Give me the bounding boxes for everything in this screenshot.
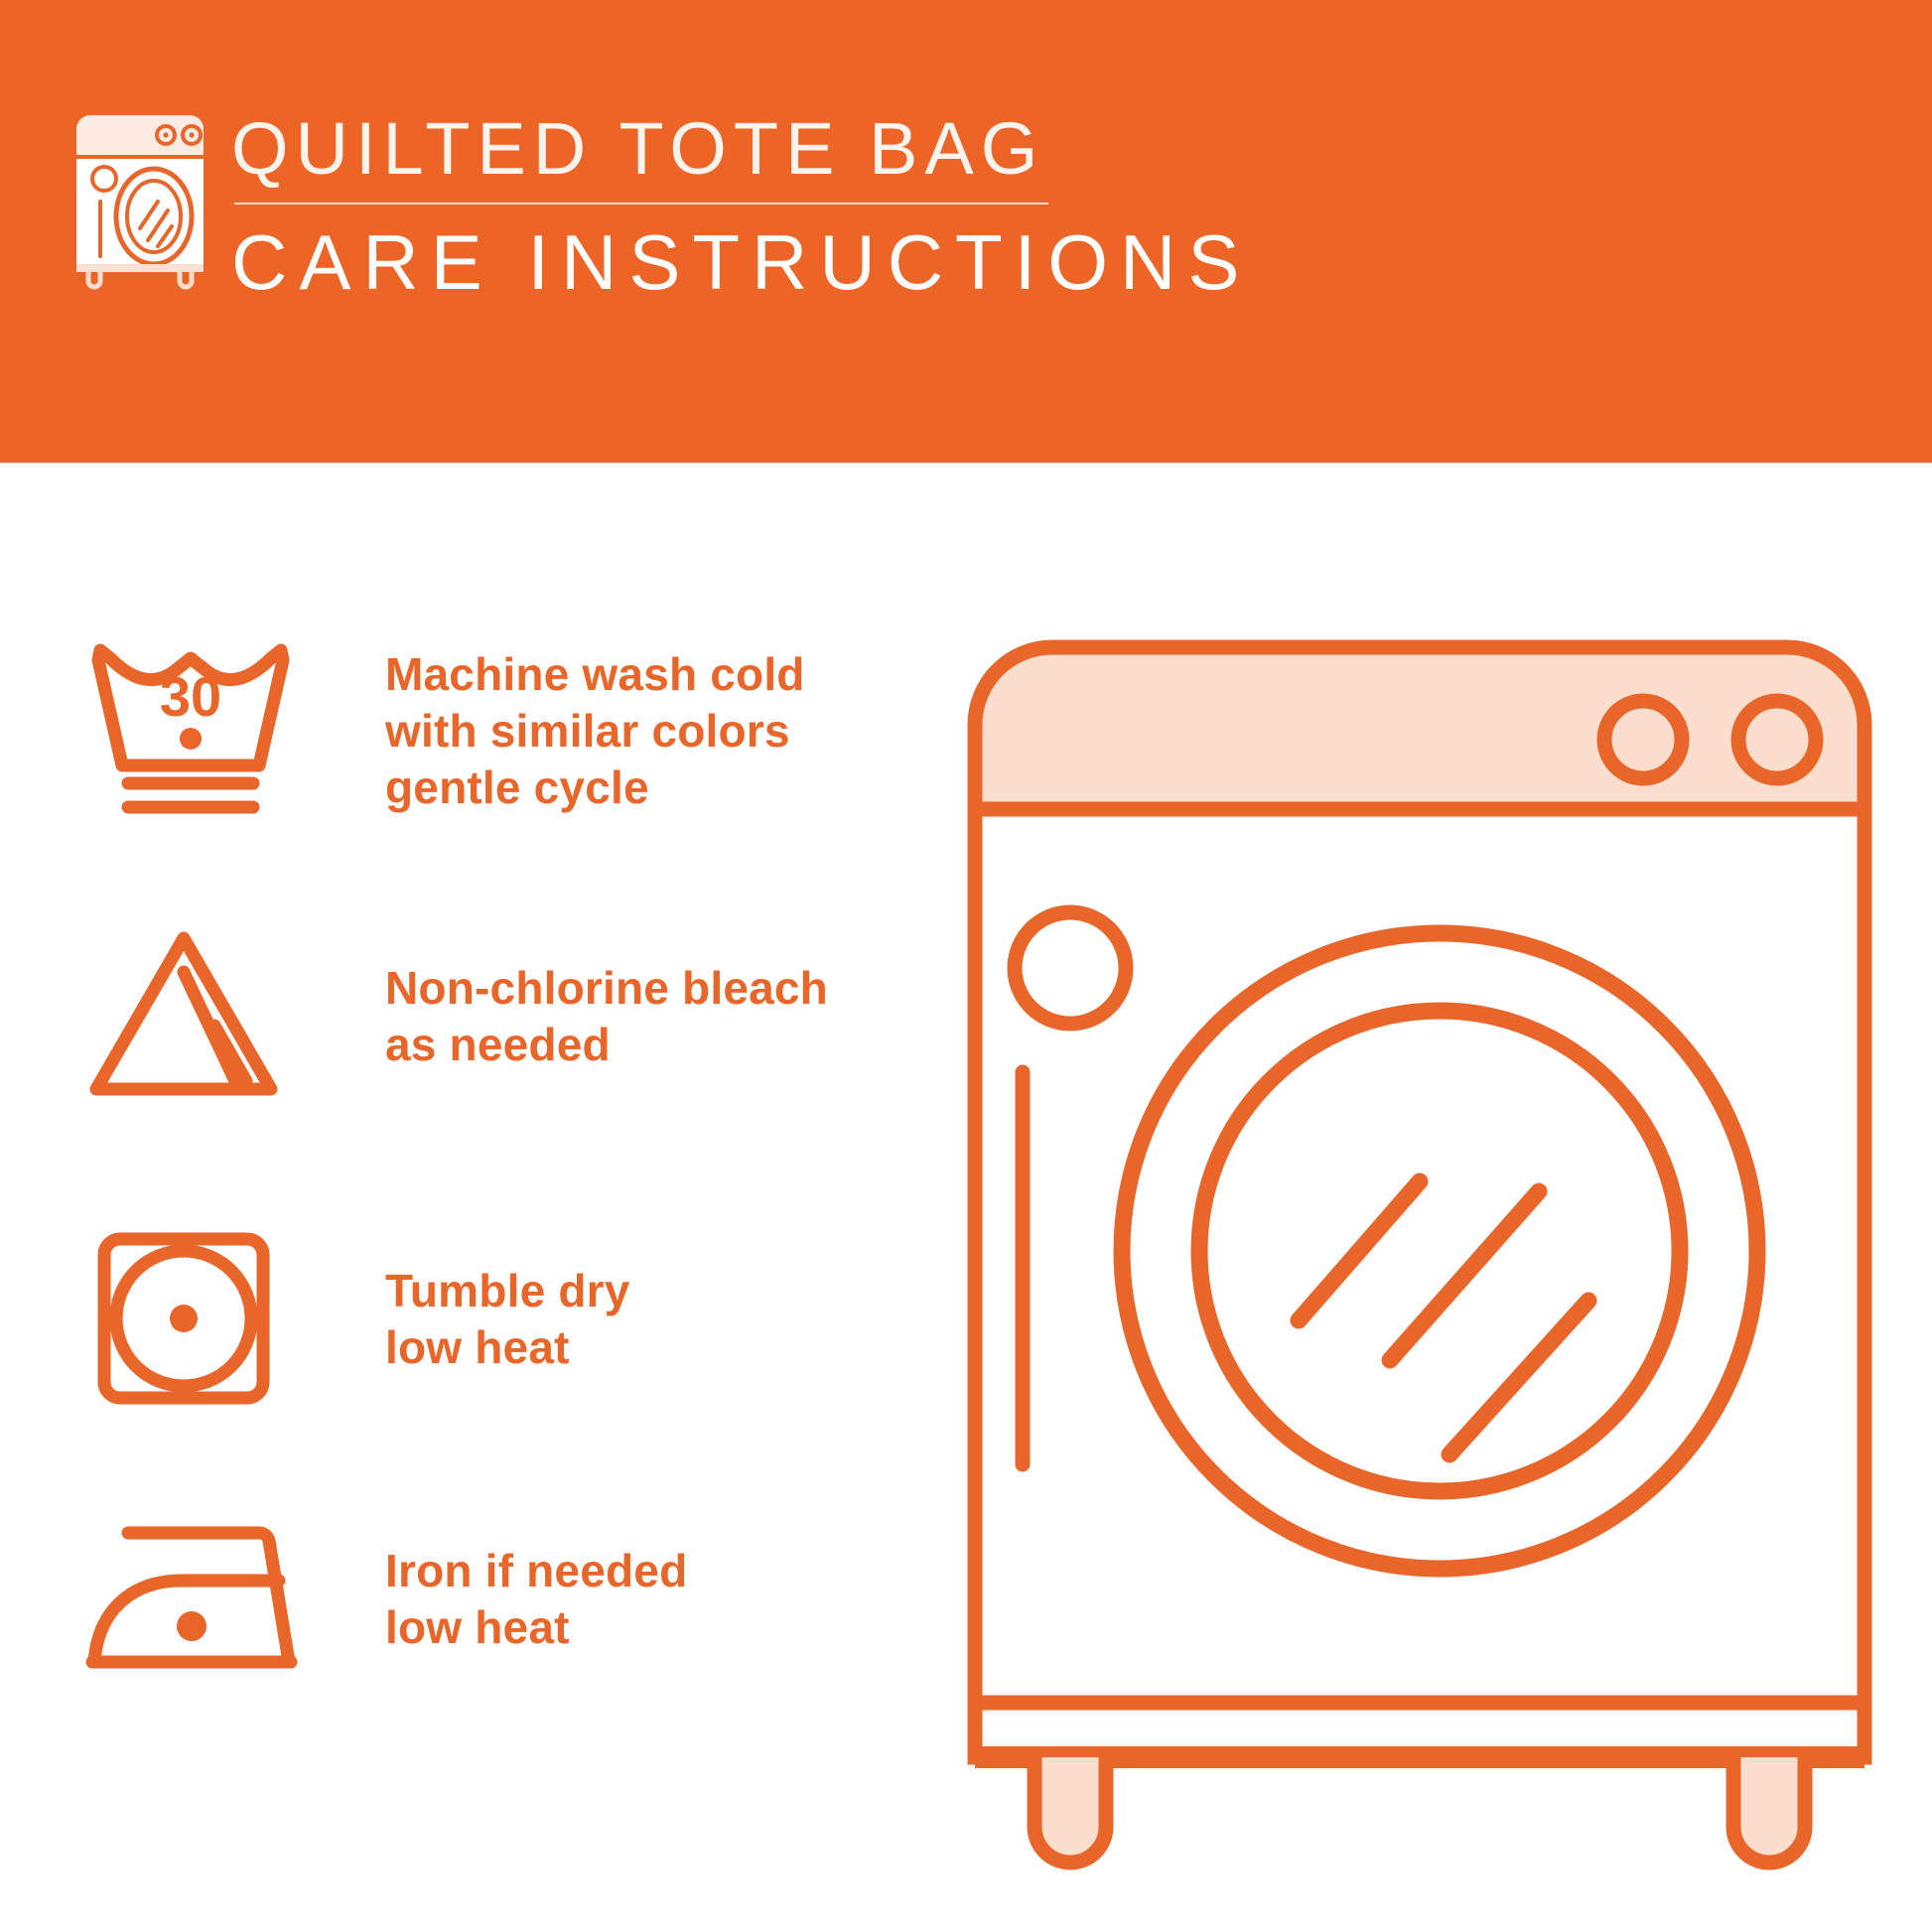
header-titles: QUILTED TOTE BAG CARE INSTRUCTIONS bbox=[231, 107, 1251, 304]
care-line: Tumble dry bbox=[385, 1263, 630, 1319]
care-text-bleach: Non-chlorine bleach as needed bbox=[385, 960, 828, 1073]
care-row-tumble-dry: Tumble dry low heat bbox=[84, 1225, 630, 1414]
care-line: Machine wash cold bbox=[385, 646, 805, 703]
care-line: low heat bbox=[385, 1319, 630, 1376]
wash-tub-30-gentle-icon: 30 bbox=[84, 636, 298, 825]
header-banner: QUILTED TOTE BAG CARE INSTRUCTIONS bbox=[0, 0, 1932, 463]
care-line: low heat bbox=[385, 1599, 687, 1656]
wash-temperature-label: 30 bbox=[160, 665, 221, 728]
title-divider bbox=[234, 203, 1048, 205]
iron-low-heat-icon bbox=[84, 1505, 298, 1694]
front-load-washing-machine-illustration bbox=[953, 625, 1886, 1876]
page-title: QUILTED TOTE BAG bbox=[231, 109, 1251, 189]
care-line: Iron if needed bbox=[385, 1543, 687, 1599]
tumble-dry-low-icon bbox=[84, 1225, 298, 1414]
care-line: with similar colors bbox=[385, 703, 805, 759]
machine-body bbox=[975, 809, 1864, 1757]
care-row-iron: Iron if needed low heat bbox=[84, 1505, 687, 1694]
care-text-tumble-dry: Tumble dry low heat bbox=[385, 1263, 630, 1376]
care-row-machine-wash: 30 Machine wash cold with similar colors… bbox=[84, 636, 805, 825]
care-instruction-list: 30 Machine wash cold with similar colors… bbox=[0, 463, 894, 1932]
care-text-iron: Iron if needed low heat bbox=[385, 1543, 687, 1656]
care-instructions-page: QUILTED TOTE BAG CARE INSTRUCTIONS 30 Ma… bbox=[0, 0, 1932, 1932]
non-chlorine-bleach-triangle-icon bbox=[84, 922, 298, 1111]
care-row-bleach: Non-chlorine bleach as needed bbox=[84, 922, 828, 1111]
header-content: QUILTED TOTE BAG CARE INSTRUCTIONS bbox=[74, 107, 1251, 304]
care-line: Non-chlorine bleach bbox=[385, 960, 828, 1017]
care-line: as needed bbox=[385, 1017, 828, 1073]
care-line: gentle cycle bbox=[385, 759, 805, 816]
washing-machine-icon bbox=[74, 107, 204, 286]
page-subtitle: CARE INSTRUCTIONS bbox=[231, 220, 1251, 304]
care-text-machine-wash: Machine wash cold with similar colors ge… bbox=[385, 646, 805, 816]
